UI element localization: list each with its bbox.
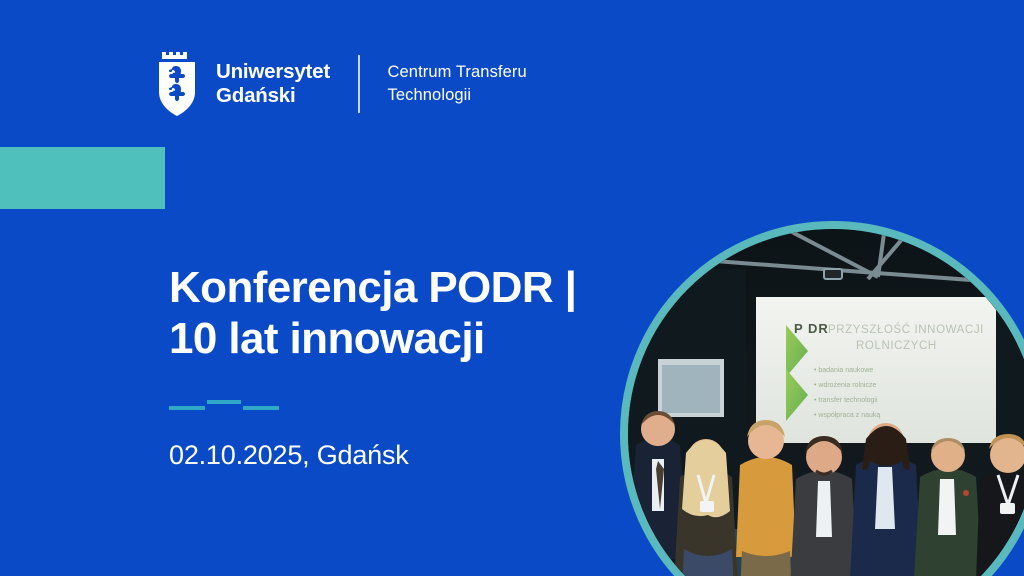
photo-clip: P DR PRZYSZŁOŚĆ INNOWACJI ROLNICZYCH • b… [628,229,1024,576]
rule-segment-right [243,406,279,410]
stepped-rule-ornament [169,398,279,412]
university-gdansk-shield-icon [154,52,200,116]
svg-text:PRZYSZŁOŚĆ INNOWACJI: PRZYSZŁOŚĆ INNOWACJI [828,323,984,336]
svg-text:• transfer technologii: • transfer technologii [814,397,878,404]
event-date-location: 02.10.2025, Gdańsk [169,440,409,471]
unit-wordmark: Centrum Transferu Technologii [388,61,527,107]
svg-text:• badania naukowe: • badania naukowe [814,367,873,374]
unit-name-line1: Centrum Transferu [388,61,527,84]
conference-group-photo: P DR PRZYSZŁOŚĆ INNOWACJI ROLNICZYCH • b… [620,221,1024,576]
poster-canvas: Uniwersytet Gdański Centrum Transferu Te… [0,0,1024,576]
svg-text:P DR: P DR [794,321,829,336]
rule-segment-left [169,406,205,410]
university-name-line1: Uniwersytet [216,60,330,84]
vertical-divider-icon [358,55,360,113]
rule-segment-middle [207,400,241,404]
teal-accent-block [0,147,165,209]
svg-text:• współpraca z nauką: • współpraca z nauką [814,412,880,419]
university-name-line2: Gdański [216,84,330,108]
logo-lockup: Uniwersytet Gdański Centrum Transferu Te… [154,48,527,120]
unit-name-line2: Technologii [388,84,527,107]
svg-text:• wdrożenia rolnicze: • wdrożenia rolnicze [814,382,876,389]
university-wordmark: Uniwersytet Gdański [216,60,330,108]
page-title: Konferencja PODR | 10 lat innowacji [169,262,576,364]
group-photo-illustration: P DR PRZYSZŁOŚĆ INNOWACJI ROLNICZYCH • b… [628,229,1024,576]
svg-text:ROLNICZYCH: ROLNICZYCH [856,340,937,352]
